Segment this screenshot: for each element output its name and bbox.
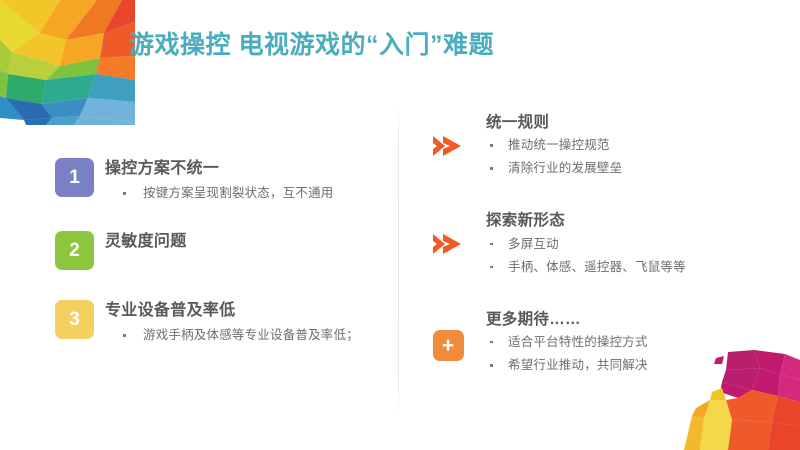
double-chevron-right-icon (428, 126, 468, 166)
number-badge-label: 1 (69, 167, 80, 189)
list-item-heading: 探索新形态 (486, 211, 748, 231)
list-item-body: 操控方案不统一 按键方案呈现割裂状态，互不通用 (105, 158, 385, 204)
list-item: 3 专业设备普及率低 游戏手柄及体感等专业设备普及率低； (55, 300, 385, 346)
top-left-polygon-decoration (0, 0, 135, 125)
bullet-item: 多屏互动 (486, 233, 748, 256)
bullet-item: 清除行业的发展壁垒 (486, 157, 748, 180)
list-item-heading: 统一规则 (486, 113, 748, 133)
list-item-body: 探索新形态 多屏互动 手柄、体感、遥控器、飞鼠等等 (486, 211, 748, 278)
bullet-item: 按键方案呈现割裂状态，互不通用 (105, 183, 385, 204)
bullet-list: 多屏互动 手柄、体感、遥控器、飞鼠等等 (486, 233, 748, 279)
list-item-heading: 更多期待…… (486, 310, 748, 330)
number-badge-label: 2 (69, 240, 80, 262)
list-item-heading: 灵敏度问题 (105, 232, 385, 252)
bullet-item: 游戏手柄及体感等专业设备普及率低； (105, 325, 385, 346)
number-badge-label: 3 (69, 309, 80, 331)
number-badge-3: 3 (55, 300, 94, 339)
number-badge-1: 1 (55, 158, 94, 197)
plus-icon-glyph: + (442, 335, 454, 356)
list-item: 统一规则 推动统一操控规范 清除行业的发展壁垒 (428, 113, 748, 180)
bullet-list: 按键方案呈现割裂状态，互不通用 (105, 183, 385, 204)
list-item-body: 统一规则 推动统一操控规范 清除行业的发展壁垒 (486, 113, 748, 180)
list-item-body: 更多期待…… 适合平台特性的操控方式 希望行业推动，共同解决 (486, 310, 748, 377)
list-item: 探索新形态 多屏互动 手柄、体感、遥控器、飞鼠等等 (428, 211, 748, 278)
bullet-item: 适合平台特性的操控方式 (486, 331, 748, 354)
plus-icon-box: + (433, 330, 464, 361)
bullet-list: 游戏手柄及体感等专业设备普及率低； (105, 325, 385, 346)
right-column: 统一规则 推动统一操控规范 清除行业的发展壁垒 探索新形态 多屏互动 手柄、体感… (428, 113, 748, 377)
left-column: 1 操控方案不统一 按键方案呈现割裂状态，互不通用 2 灵敏度问题 3 专业设备 (55, 158, 385, 347)
list-item: 1 操控方案不统一 按键方案呈现割裂状态，互不通用 (55, 158, 385, 204)
column-divider (398, 98, 399, 423)
bullet-item: 希望行业推动，共同解决 (486, 354, 748, 377)
list-item: 2 灵敏度问题 (55, 231, 385, 273)
bullet-item: 推动统一操控规范 (486, 134, 748, 157)
plus-icon: + (428, 326, 468, 366)
page-title: 游戏操控 电视游戏的“入门”难题 (129, 25, 494, 61)
bullet-item: 手柄、体感、遥控器、飞鼠等等 (486, 256, 748, 279)
double-chevron-right-icon (428, 224, 468, 264)
number-badge-2: 2 (55, 231, 94, 270)
list-item-heading: 操控方案不统一 (105, 159, 385, 179)
slide-canvas: 游戏操控 电视游戏的“入门”难题 1 操控方案不统一 按键方案呈现割裂状态，互不… (0, 0, 800, 450)
bullet-list: 适合平台特性的操控方式 希望行业推动，共同解决 (486, 331, 748, 377)
list-item-body: 专业设备普及率低 游戏手柄及体感等专业设备普及率低； (105, 300, 385, 346)
list-item-body: 灵敏度问题 (105, 231, 385, 252)
bullet-list: 推动统一操控规范 清除行业的发展壁垒 (486, 134, 748, 180)
list-item: + 更多期待…… 适合平台特性的操控方式 希望行业推动，共同解决 (428, 310, 748, 377)
list-item-heading: 专业设备普及率低 (105, 301, 385, 321)
